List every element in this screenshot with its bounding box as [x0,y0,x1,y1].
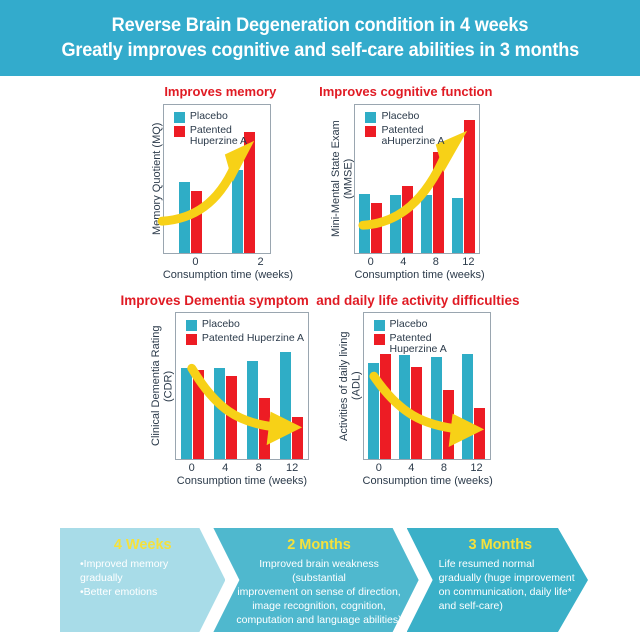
bar-placebo [359,194,370,253]
bar-group [448,105,479,253]
legend-label-placebo: Placebo [202,319,240,330]
bar-treatment [474,408,485,459]
bar-treatment [464,120,475,253]
bar-treatment [402,186,413,253]
chart-adl-legend: Placebo Patented Huperzine A [374,319,447,357]
legend-swatch-placebo [174,112,185,123]
legend-label-placebo: Placebo [390,319,428,330]
x-tick: 0 [163,256,228,268]
bar-placebo [462,354,473,459]
chart-adl-xlabel: Consumption time (weeks) [363,475,493,487]
timeline-step-heading: 3 Months [425,537,576,553]
bar-treatment [193,370,204,459]
chart-cognitive: Improves cognitive function Mini-Mental … [319,84,492,281]
legend-swatch-placebo [186,320,197,331]
legend-item-treatment: Patented Huperzine A [374,333,447,355]
legend-item-placebo: Placebo [365,111,444,123]
header-line-2: Greatly improves cognitive and self-care… [61,39,579,62]
chart-cognitive-plot: Placebo Patented aHuperzine A [354,104,480,254]
x-tick: 4 [208,462,242,474]
legend-swatch-treatment [186,334,197,345]
bar-placebo [181,368,192,459]
chart-cognitive-title: Improves cognitive function [319,84,492,99]
x-tick: 2 [228,256,293,268]
bar-treatment [380,354,391,459]
section-title-bottom: Improves Dementia symptom and daily life… [0,293,640,308]
bar-treatment [371,203,382,253]
bar-group [458,313,490,459]
bar-placebo [431,357,442,459]
legend-item-treatment: Patented aHuperzine A [365,125,444,147]
legend-item-treatment: Patented Huperzine A [186,333,304,345]
timeline-step-heading: 2 Months [231,537,406,553]
chart-memory-title: Improves memory [164,84,276,99]
timeline-banner: 4 Weeks •Improved memory gradually •Bett… [60,528,588,632]
legend-label-placebo: Placebo [381,111,419,122]
legend-item-placebo: Placebo [186,319,304,331]
charts-container: Improves memory Memory Quotient (MQ) Pla… [0,76,640,487]
bar-placebo [232,170,243,253]
bar-treatment [191,191,202,253]
x-tick: 4 [387,256,420,268]
x-tick: 8 [242,462,276,474]
x-tick: 12 [460,462,493,474]
x-tick: 0 [363,462,396,474]
legend-swatch-placebo [365,112,376,123]
legend-swatch-treatment [174,126,185,137]
chart-adl-xticks: 0 4 8 12 [363,462,493,474]
bar-treatment [259,398,270,459]
chart-cognitive-xticks: 0 4 8 12 [354,256,484,268]
bar-treatment [292,417,303,459]
chart-row-bottom: Clinical Dementia Rating (CDR) Placebo P… [0,312,640,487]
timeline-step-body: •Improved memory gradually •Better emoti… [78,558,213,600]
chart-cognitive-ylabel: Mini-Mental State Exam (MMSE) [327,104,355,254]
chart-memory-legend: Placebo Patented Huperzine A [174,111,247,149]
x-tick: 8 [420,256,453,268]
chart-adl-ylabel: Activities of daily living (ADL) [335,312,363,460]
bar-placebo [179,182,190,253]
timeline-step-body: Improved brain weakness (substantial imp… [231,558,406,628]
bar-placebo [452,198,463,253]
chart-cognitive-legend: Placebo Patented aHuperzine A [365,111,444,149]
chart-memory-ylabel: Memory Quotient (MQ) [148,104,163,254]
legend-label-treatment: Patented aHuperzine A [381,125,444,147]
chart-row-top: Improves memory Memory Quotient (MQ) Pla… [0,84,640,281]
legend-swatch-treatment [365,126,376,137]
timeline-step-2-months: 2 Months Improved brain weakness (substa… [213,528,418,632]
legend-swatch-placebo [374,320,385,331]
legend-item-placebo: Placebo [174,111,247,123]
legend-swatch-treatment [374,334,385,345]
bar-placebo [280,352,291,459]
chart-memory-plot: Placebo Patented Huperzine A [163,104,271,254]
chart-memory: Improves memory Memory Quotient (MQ) Pla… [148,84,294,281]
x-tick: 8 [428,462,461,474]
timeline-step-heading: 4 Weeks [72,537,213,553]
bar-placebo [421,195,432,253]
legend-label-treatment: Patented Huperzine A [390,333,447,355]
chart-cdr-xlabel: Consumption time (weeks) [175,475,309,487]
bar-treatment [443,390,454,459]
legend-label-placebo: Placebo [190,111,228,122]
x-tick: 0 [175,462,209,474]
chart-cdr-legend: Placebo Patented Huperzine A [186,319,304,347]
bar-placebo [368,363,379,459]
bar-placebo [399,355,410,459]
bar-placebo [247,361,258,459]
legend-item-placebo: Placebo [374,319,447,331]
timeline-step-body: Life resumed normal gradually (huge impr… [425,558,576,614]
chart-adl: Activities of daily living (ADL) Placebo… [335,312,493,487]
header-banner: Reverse Brain Degeneration condition in … [0,0,640,76]
chart-memory-xlabel: Consumption time (weeks) [163,269,293,281]
chart-adl-plot: Placebo Patented Huperzine A [363,312,491,460]
bar-placebo [214,368,225,459]
legend-label-treatment: Patented Huperzine A [190,125,247,147]
header-line-1: Reverse Brain Degeneration condition in … [112,14,529,37]
x-tick: 12 [275,462,309,474]
chart-cognitive-xlabel: Consumption time (weeks) [354,269,484,281]
bar-treatment [433,152,444,253]
chart-cdr-ylabel: Clinical Dementia Rating (CDR) [147,312,175,460]
chart-cdr-plot: Placebo Patented Huperzine A [175,312,309,460]
chart-memory-xticks: 0 2 [163,256,293,268]
chart-cdr: Clinical Dementia Rating (CDR) Placebo P… [147,312,309,487]
chart-cdr-xticks: 0 4 8 12 [175,462,309,474]
legend-label-treatment: Patented Huperzine A [202,333,304,344]
bar-placebo [390,195,401,253]
x-tick: 12 [452,256,485,268]
bar-treatment [226,376,237,459]
timeline-step-3-months: 3 Months Life resumed normal gradually (… [407,528,588,632]
x-tick: 4 [395,462,428,474]
legend-item-treatment: Patented Huperzine A [174,125,247,147]
bar-treatment [244,132,255,253]
x-tick: 0 [354,256,387,268]
timeline-step-4-weeks: 4 Weeks •Improved memory gradually •Bett… [60,528,225,632]
bar-treatment [411,367,422,459]
